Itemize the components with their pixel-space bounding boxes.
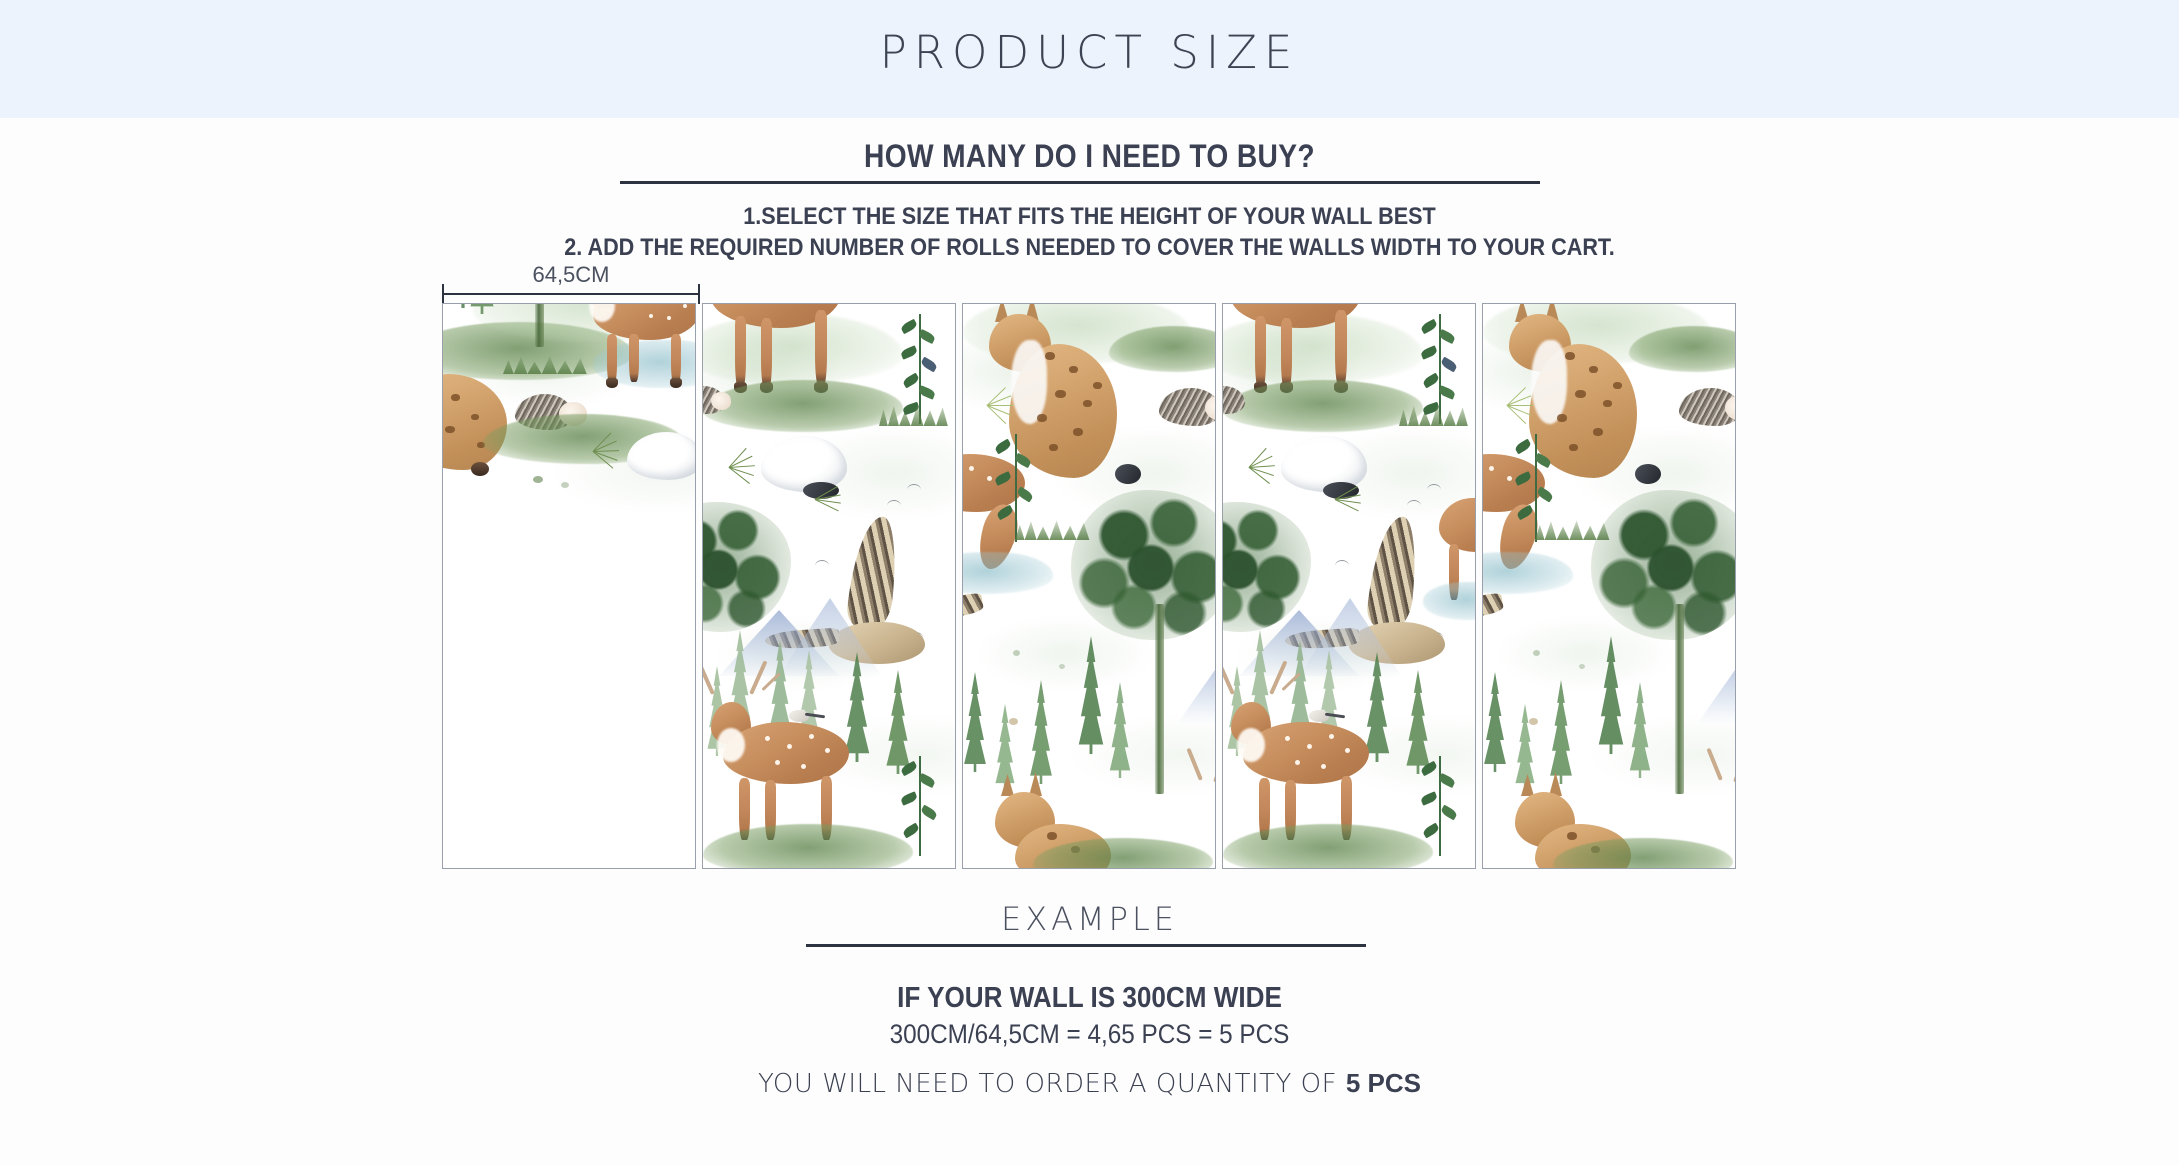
page-title: PRODUCT SIZE <box>0 26 2179 79</box>
wallpaper-panel[interactable] <box>702 303 956 869</box>
intro-heading: HOW MANY DO I NEED TO BUY? <box>131 138 2049 175</box>
roll-width-dimension: 64,5CM <box>442 262 700 298</box>
wallpaper-artwork-d <box>1223 304 1476 868</box>
order-quantity-value: 5 PCS <box>1346 1068 1421 1098</box>
divider-top <box>620 181 1540 184</box>
dimension-label: 64,5CM <box>442 262 700 288</box>
dimension-bar <box>442 293 700 295</box>
example-wall-width: IF YOUR WALL IS 300CM WIDE <box>109 982 2070 1015</box>
wallpaper-panel[interactable] <box>1482 303 1736 869</box>
wallpaper-artwork-b <box>703 304 956 868</box>
wallpaper-artwork-e <box>1483 304 1736 868</box>
intro-step-1: 1.SELECT THE SIZE THAT FITS THE HEIGHT O… <box>109 203 2070 231</box>
wallpaper-artwork-a <box>443 304 696 868</box>
dimension-tick-right <box>698 284 700 304</box>
wallpaper-artwork-c <box>963 304 1216 868</box>
wallpaper-panel[interactable] <box>962 303 1216 869</box>
product-size-page: PRODUCT SIZE HOW MANY DO I NEED TO BUY? … <box>0 0 2179 1165</box>
dimension-tick-left <box>442 284 444 304</box>
wallpaper-panel[interactable] <box>1222 303 1476 869</box>
example-title: EXAMPLE <box>0 900 2179 938</box>
order-prefix-text: YOU WILL NEED TO ORDER A QUANTITY OF <box>758 1069 1346 1099</box>
wallpaper-panel-strip <box>442 303 1736 869</box>
divider-example <box>806 944 1366 947</box>
example-calculation: 300CM/64,5CM = 4,65 PCS = 5 PCS <box>109 1019 2070 1050</box>
wallpaper-panel[interactable] <box>442 303 696 869</box>
intro-step-2: 2. ADD THE REQUIRED NUMBER OF ROLLS NEED… <box>109 234 2070 262</box>
example-order-quantity: YOU WILL NEED TO ORDER A QUANTITY OF 5 P… <box>0 1068 2179 1099</box>
